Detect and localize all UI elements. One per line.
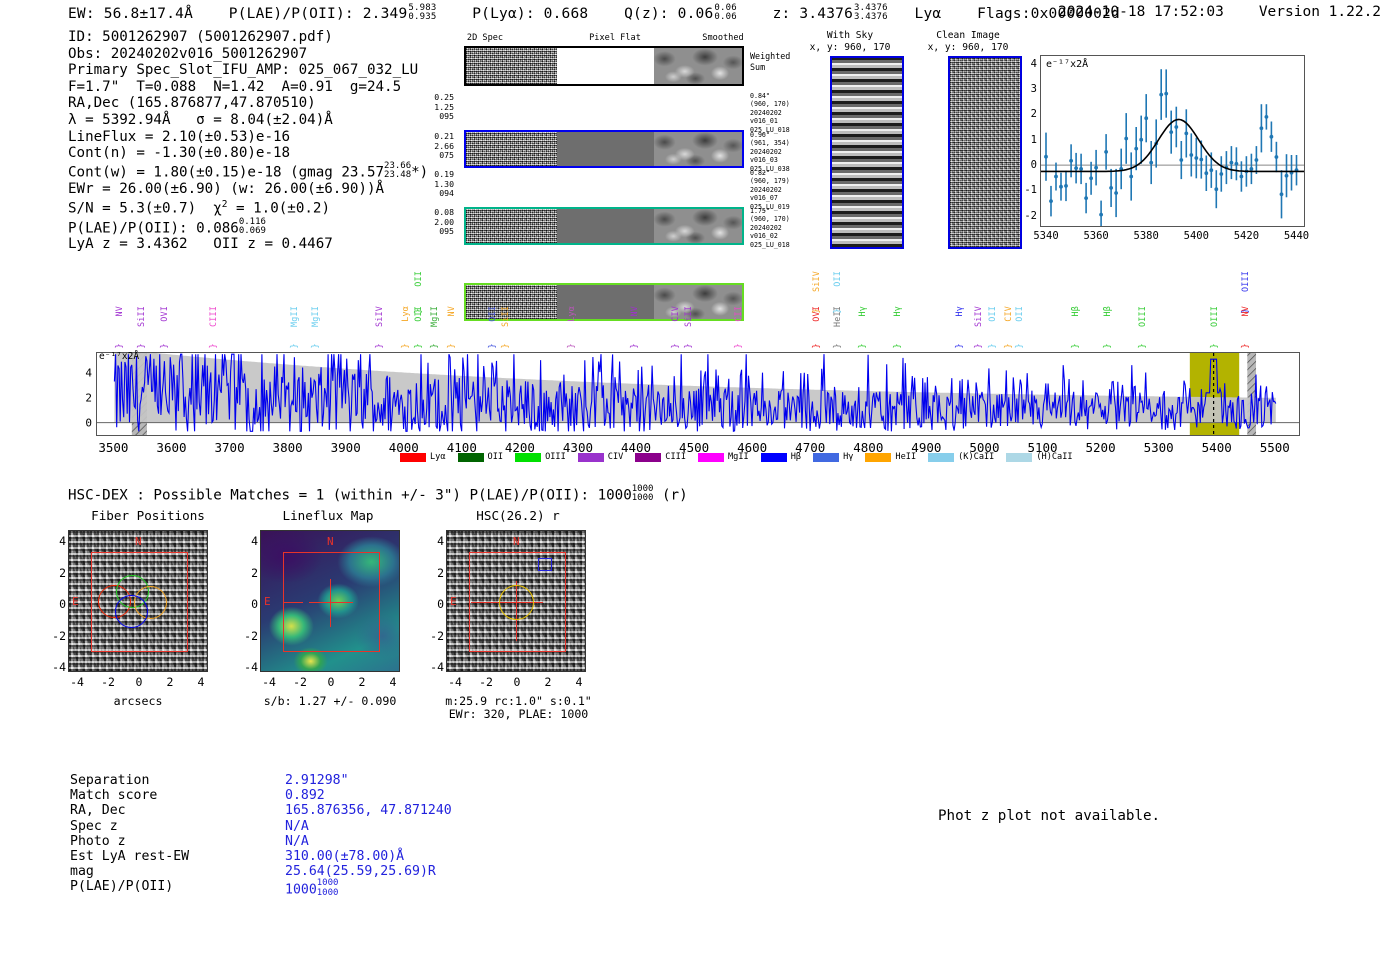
hsc-compass-east: E [450,595,457,608]
emission-line-brace: { [831,308,841,313]
emission-line-brace: { [810,343,820,348]
meta-primary-spec: Primary Spec_Slot_IFU_AMP: 025_067_032_L… [68,62,428,79]
lineflux-map-title: Lineflux Map [238,508,418,523]
emission-line-label: Lyα [400,306,410,322]
emission-line-label: Hβ [1070,306,1080,316]
emission-line-brace: { [732,343,742,348]
spectrum-x-tick: 3500 [98,440,128,455]
exposure-strip [464,207,744,245]
fiber-positions-title: Fiber Positions [58,508,238,523]
meta-plae-range: 0.1160.069 [239,218,266,236]
exposure-right-labels: 1.75"(960, 170)20240202v016_02025_LU_018 [750,207,802,249]
emission-line-brace: { [669,343,679,348]
legend-swatch [458,453,484,462]
hsc-r-title: HSC(26.2) r [428,508,608,523]
emission-line-label: OII [1014,306,1024,322]
emission-line-label: CII [733,306,743,322]
weighted-sum-2dspec-image [466,48,557,84]
emission-line-label: MgII [289,306,299,327]
full-spectrum-plot: e⁻¹⁷x2Å 024 3500360037003800390040004100… [96,352,1300,436]
detail-value: 2.91298" [285,773,349,788]
legend-item: (K)CaII [928,452,994,462]
spectrum-x-tick: 5200 [1086,440,1116,455]
legend-label: Hγ [843,452,853,462]
legend-label: (K)CaII [958,452,994,462]
legend-swatch [813,453,839,462]
legend-item: (H)CaII [1006,452,1072,462]
hsc-aperture-circle [499,585,534,620]
hsc-r-image: N E [446,530,586,672]
legend-item: Lyα [400,452,446,462]
fit-y-tick: -2 [1024,210,1037,222]
legend-label: Lyα [430,452,446,462]
exposure-pixelflat-image [557,209,654,243]
panel-title-pixelflat: Pixel Flat [560,33,670,43]
cutout-y-tick: 2 [430,566,444,580]
fit-y-tick: 2 [1031,108,1037,120]
emission-line-brace: { [412,343,422,348]
emission-line-brace: { [1101,343,1111,348]
exposure-smoothed-image [654,285,742,319]
emission-line-label: SiII [500,306,510,327]
cutout-y-tick: 4 [52,534,66,548]
cutout-y-tick: 2 [52,566,66,580]
cutout-x-tick: -4 [445,675,465,689]
detail-value: 100010001000 [285,879,338,897]
emission-line-label: OII [487,306,497,322]
detail-key: Photo z [70,834,126,849]
lineflux-compass-east: E [264,595,271,608]
legend-swatch [928,453,954,462]
emission-line-label: Hγ [857,306,867,316]
exposure-left-labels: 0.251.25095 [420,93,454,122]
emission-line-label: OII [987,306,997,322]
emission-line-brace: { [565,343,575,348]
fit-y-tick: 1 [1031,134,1037,146]
hsc-xlabel: m:25.9 rc:1.0" s:0.1" [431,694,606,708]
cutout-x-tick: 0 [507,675,527,689]
fit-plot-svg [1041,56,1304,226]
legend-label: MgII [728,452,749,462]
header-qz-range: 0.060.06 [714,4,736,22]
emission-line-brace: { [1002,343,1012,348]
weighted-sum-smoothed-image [654,48,742,84]
exposure-strip [464,130,744,168]
legend-label: CIII [665,452,686,462]
meta-radec: RA,Dec (165.876877,47.870510) [68,95,428,112]
emission-line-brace: { [810,308,820,313]
cutout-x-tick: 2 [538,675,558,689]
cutout-y-tick: 2 [244,566,258,580]
legend-swatch [1006,453,1032,462]
spectrum-x-tick: 3700 [214,440,244,455]
cutout-x-tick: -2 [98,675,118,689]
detail-value: 0.892 [285,788,325,803]
detail-value: 165.876356, 47.871240 [285,803,452,818]
exposure-left-labels: 0.191.30094 [420,170,454,199]
cutout-x-tick: 2 [160,675,180,689]
panel-title-2dspec: 2D Spec [430,33,540,43]
emission-line-brace: { [628,343,638,348]
emission-line-fit-plot: e⁻¹⁷x2Å -2-101234 5340536053805400542054… [1040,55,1305,227]
meta-seeing: F=1.7" T=0.088 N=1.42 A=0.91 g=24.5 [68,79,428,96]
emission-line-label: CIV [1003,306,1013,322]
emission-line-brace: { [831,343,841,348]
cutout-y-tick: 4 [430,534,444,548]
photz-note: Phot z plot not available. [938,808,1160,824]
exposure-left-labels: 0.082.00095 [420,208,454,237]
emission-line-label: NV [1240,306,1250,316]
detail-value: 25.64(25.59,25.69)R [285,864,436,879]
detail-key: mag [70,864,94,879]
emission-line-brace: { [1136,343,1146,348]
emission-line-label: SiIV [973,306,983,327]
exposure-rows-container: 0.251.250950.84"(960, 170)20240202v016_0… [420,73,780,225]
emission-line-label: SiIV [374,306,384,327]
exposure-2dspec-image [466,285,557,319]
meta-lambda-sigma: λ = 5392.94Å σ = 8.04(±2.04)Å [68,112,428,129]
fiber-positions-panel: Fiber Positions N E 420-2-4 -4-2024 arcs… [58,508,238,708]
cutout-x-tick: 2 [352,675,372,689]
fit-y-tick: 3 [1031,83,1037,95]
hsc-r-panel: HSC(26.2) r N E 420-2-4 -4-2024 m:25.9 r… [428,508,608,708]
detail-key: Est LyA rest-EW [70,849,189,864]
lineflux-crosshair-left [283,602,303,603]
meta-redshifts: LyA z = 3.4362 OII z = 0.4467 [68,236,428,253]
header-qz: Q(z): 0.06 [624,6,713,22]
emission-line-label: OVI [159,306,169,322]
cutout-x-tick: -2 [290,675,310,689]
emission-line-brace: { [891,343,901,348]
legend-swatch [400,453,426,462]
exposure-2dspec-image [466,132,557,166]
cutout-y-tick: -2 [430,629,444,643]
legend-item: CIII [635,452,686,462]
meta-plae-poii: P(LAE)/P(OII): 0.0860.1160.069 [68,218,428,237]
legend-item: CIV [578,452,624,462]
emission-line-brace: { [682,343,692,348]
legend-label: CIV [608,452,624,462]
lineflux-xlabel: s/b: 1.27 +/- 0.090 [250,694,410,708]
header-z: z: 3.4376 [773,6,853,22]
exposure-smoothed-image [654,209,742,243]
detail-value-range: 10001000 [317,879,339,897]
legend-swatch [635,453,661,462]
cutout-x-tick: 4 [569,675,589,689]
header-plae-poii-range: 5.9830.935 [408,4,436,22]
cutout-y-tick: -2 [52,629,66,643]
emission-line-brace: { [113,343,123,348]
fit-x-tick: 5340 [1033,230,1058,242]
header-ew: EW: 56.8±17.4Å [68,6,193,22]
weighted-sum-strip [464,46,744,86]
exposure-pixelflat-image [557,132,654,166]
legend-item: Hγ [813,452,853,462]
legend-swatch [578,453,604,462]
cutout-x-tick: 0 [321,675,341,689]
legend-label: Hβ [791,452,801,462]
cutout-y-tick: -4 [52,660,66,674]
detail-value: N/A [285,819,309,834]
cutout-y-tick: -2 [244,629,258,643]
legend-label: (H)CaII [1036,452,1072,462]
exposure-right-labels: 0.84"(960, 170)20240202v016_01025_LU_018 [750,92,802,134]
cutout-x-tick: -4 [67,675,87,689]
emission-line-brace: { [486,343,496,348]
legend-swatch [515,453,541,462]
emission-line-label: SiIV [811,271,821,292]
meta-ewr: EWr = 26.00(±6.90) (w: 26.00(±6.90))Å [68,181,428,198]
spectrum-legend: LyαOIIOIIICIVCIIIMgIIHβHγHeII(K)CaII(H)C… [400,452,1085,462]
exposure-left-labels: 0.212.66075 [420,132,454,161]
emission-line-label: SiII [683,306,693,327]
report-timestamp: 2024-10-18 17:52:03 [1058,4,1224,20]
emission-line-label: OIII [1137,306,1147,327]
sky-clean-cutouts: With Sky x, y: 960, 170 Clean Image x, y… [800,30,1030,250]
emission-line-label: Hγ [954,306,964,316]
spectrum-x-tick: 5500 [1260,440,1290,455]
cutout-x-tick: 4 [383,675,403,689]
emission-line-brace: { [953,343,963,348]
cleanimage-image [948,56,1022,249]
fit-y-tick: 0 [1031,159,1037,171]
meta-lineflux: LineFlux = 2.10(±0.53)e-16 [68,129,428,146]
cutout-y-tick: -4 [244,660,258,674]
header-plya: P(Lyα): 0.668 [472,6,588,22]
emission-line-brace: { [412,308,422,313]
lineflux-map-image: N E [260,530,400,672]
emission-line-label: SiII [136,306,146,327]
header-summary-line: EW: 56.8±17.4Å P(LAE)/P(OII): 2.3495.983… [68,4,1120,22]
spectrum-y-tick: 0 [85,416,92,429]
emission-line-label: MgII [429,306,439,327]
detail-key: Spec z [70,819,118,834]
detail-value: 310.00(±78.00)Å [285,849,404,864]
cutout-x-tick: -2 [476,675,496,689]
fit-plot-frame [1040,55,1305,227]
fit-y-tick: 4 [1031,58,1037,70]
emission-line-brace: { [373,343,383,348]
emission-line-brace: { [972,343,982,348]
emission-line-brace: { [1013,343,1023,348]
report-version: Version 1.22.2 [1259,4,1381,20]
hsc-xlabel2: EWr: 320, PLAE: 1000 [431,707,606,721]
cutout-x-tick: 4 [191,675,211,689]
spectrum-y-tick: 4 [85,366,92,379]
lineflux-map-panel: Lineflux Map N E 420-2-4 -4-2024 s/b: 1.… [238,508,418,708]
emission-line-label: NV [114,306,124,316]
legend-label: OIII [545,452,566,462]
header-z-range: 3.43763.4376 [854,4,888,22]
cutout-x-tick: -4 [259,675,279,689]
detail-key: Separation [70,773,149,788]
lineflux-crosshair-v [330,579,331,627]
spectrum-y-tick: 2 [85,391,92,404]
emission-line-label: MgII [310,306,320,327]
emission-line-label: NV [629,306,639,316]
emission-line-brace: { [856,343,866,348]
hsc-plae-range: 10001000 [632,485,654,503]
emission-line-brace: { [445,343,455,348]
emission-line-brace: { [158,343,168,348]
legend-label: HeII [895,452,916,462]
header-timestamp-version: 2024-10-18 17:52:03 Version 1.22.2 [1058,4,1381,20]
header-z-line: Lyα [915,6,942,22]
exposure-2dspec-image [466,209,557,243]
emission-line-brace: { [207,343,217,348]
fiber-xlabel: arcsecs [68,694,208,708]
meta-snr-chi2: S/N = 5.3(±0.7) χ2 = 1.0(±0.2) [68,197,428,217]
legend-swatch [761,453,787,462]
emission-line-label: NV [446,306,456,316]
cutout-y-tick: 0 [430,597,444,611]
fiber-compass-north: N [135,535,142,548]
fiber-compass-east: E [72,595,79,608]
spectrum-x-tick: 3600 [156,440,186,455]
panel-title-smoothed: Smoothed [668,33,778,43]
emission-line-brace: { [1239,343,1249,348]
legend-item: MgII [698,452,749,462]
legend-label: OII [488,452,504,462]
twod-spec-panel-group: 2D Spec Pixel Flat Smoothed Weighted Sum… [420,33,780,248]
weighted-sum-label: Weighted Sum [750,51,796,72]
emission-line-brace: { [1208,343,1218,348]
hsc-compass-north: N [513,535,520,548]
emission-line-brace: { [499,343,509,348]
detail-value: N/A [285,834,309,849]
legend-item: HeII [865,452,916,462]
legend-item: Hβ [761,452,801,462]
fiber-circle-4 [115,595,148,628]
fit-x-tick: 5400 [1184,230,1209,242]
header-plae-poii: P(LAE)/P(OII): 2.349 [229,6,408,22]
detail-key: P(LAE)/P(OII) [70,879,173,894]
exposure-right-labels: 0.96"(961, 354)20240202v016_03025_LU_038 [750,131,802,173]
emission-line-brace: { [1069,343,1079,348]
exposure-right-labels: 0.82"(960, 179)20240202v016_07025_LU_019 [750,169,802,211]
meta-obs: Obs: 20240202v016_5001262907 [68,46,428,63]
spectrum-x-tick: 3900 [331,440,361,455]
emission-line-brace: { [986,343,996,348]
emission-line-label: OII [832,271,842,287]
legend-swatch [865,453,891,462]
cutout-y-tick: 0 [52,597,66,611]
emission-line-label: Lyα [566,306,576,322]
fit-x-tick: 5420 [1234,230,1259,242]
fit-x-tick: 5380 [1134,230,1159,242]
withsky-title: With Sky x, y: 960, 170 [800,30,900,54]
spectrum-x-tick: 5300 [1144,440,1174,455]
lineflux-compass-north: N [327,535,334,548]
meta-gmag-range: 23.6623.48 [384,162,411,180]
cutout-y-tick: 4 [244,534,258,548]
detail-key: RA, Dec [70,803,126,818]
emission-line-brace: { [399,343,409,348]
spectrum-x-tick: 3800 [273,440,303,455]
cleanimage-title: Clean Image x, y: 960, 170 [918,30,1018,54]
spectrum-x-tick: 5400 [1202,440,1232,455]
weighted-sum-pixelflat-image [557,48,654,84]
emission-line-label: OIII [1240,271,1250,292]
fit-x-tick: 5360 [1083,230,1108,242]
emission-line-label: OIII [1209,306,1219,327]
spectrum-svg [97,353,1299,435]
fit-plot-units: e⁻¹⁷x2Å [1046,59,1088,70]
emission-line-label: CIII [208,306,218,327]
meta-cont-w: Cont(w) = 1.80(±0.15)e-18 (gmag 23.5723.… [68,162,428,181]
exposure-smoothed-image [654,132,742,166]
fiber-positions-image: N E [68,530,208,672]
spectrum-units: e⁻¹⁷x2Å [99,351,139,362]
emission-line-brace: { [309,343,319,348]
object-metadata-block: ID: 5001262907 (5001262907.pdf) Obs: 202… [68,29,428,253]
legend-swatch [698,453,724,462]
meta-cont-n: Cont(n) = -1.30(±0.80)e-18 [68,145,428,162]
emission-line-label: CIV [670,306,680,322]
cutout-x-tick: 0 [129,675,149,689]
hsc-catalog-match-box [538,558,552,571]
cutout-y-tick: 0 [244,597,258,611]
fit-y-tick: -1 [1024,184,1037,196]
emission-line-label: Hβ [1102,306,1112,316]
hsc-dex-summary: HSC-DEX : Possible Matches = 1 (within +… [68,485,688,503]
emission-line-brace: { [288,343,298,348]
fit-x-tick: 5440 [1284,230,1309,242]
spectrum-frame [96,352,1300,436]
meta-id: ID: 5001262907 (5001262907.pdf) [68,29,428,46]
emission-line-label: Hγ [892,306,902,316]
legend-item: OIII [515,452,566,462]
cutout-y-tick: -4 [430,660,444,674]
emission-line-brace: { [428,343,438,348]
emission-line-label: OII [413,271,423,287]
detail-key: Match score [70,788,157,803]
emission-line-brace: { [135,343,145,348]
withsky-image [830,56,904,249]
legend-item: OII [458,452,504,462]
